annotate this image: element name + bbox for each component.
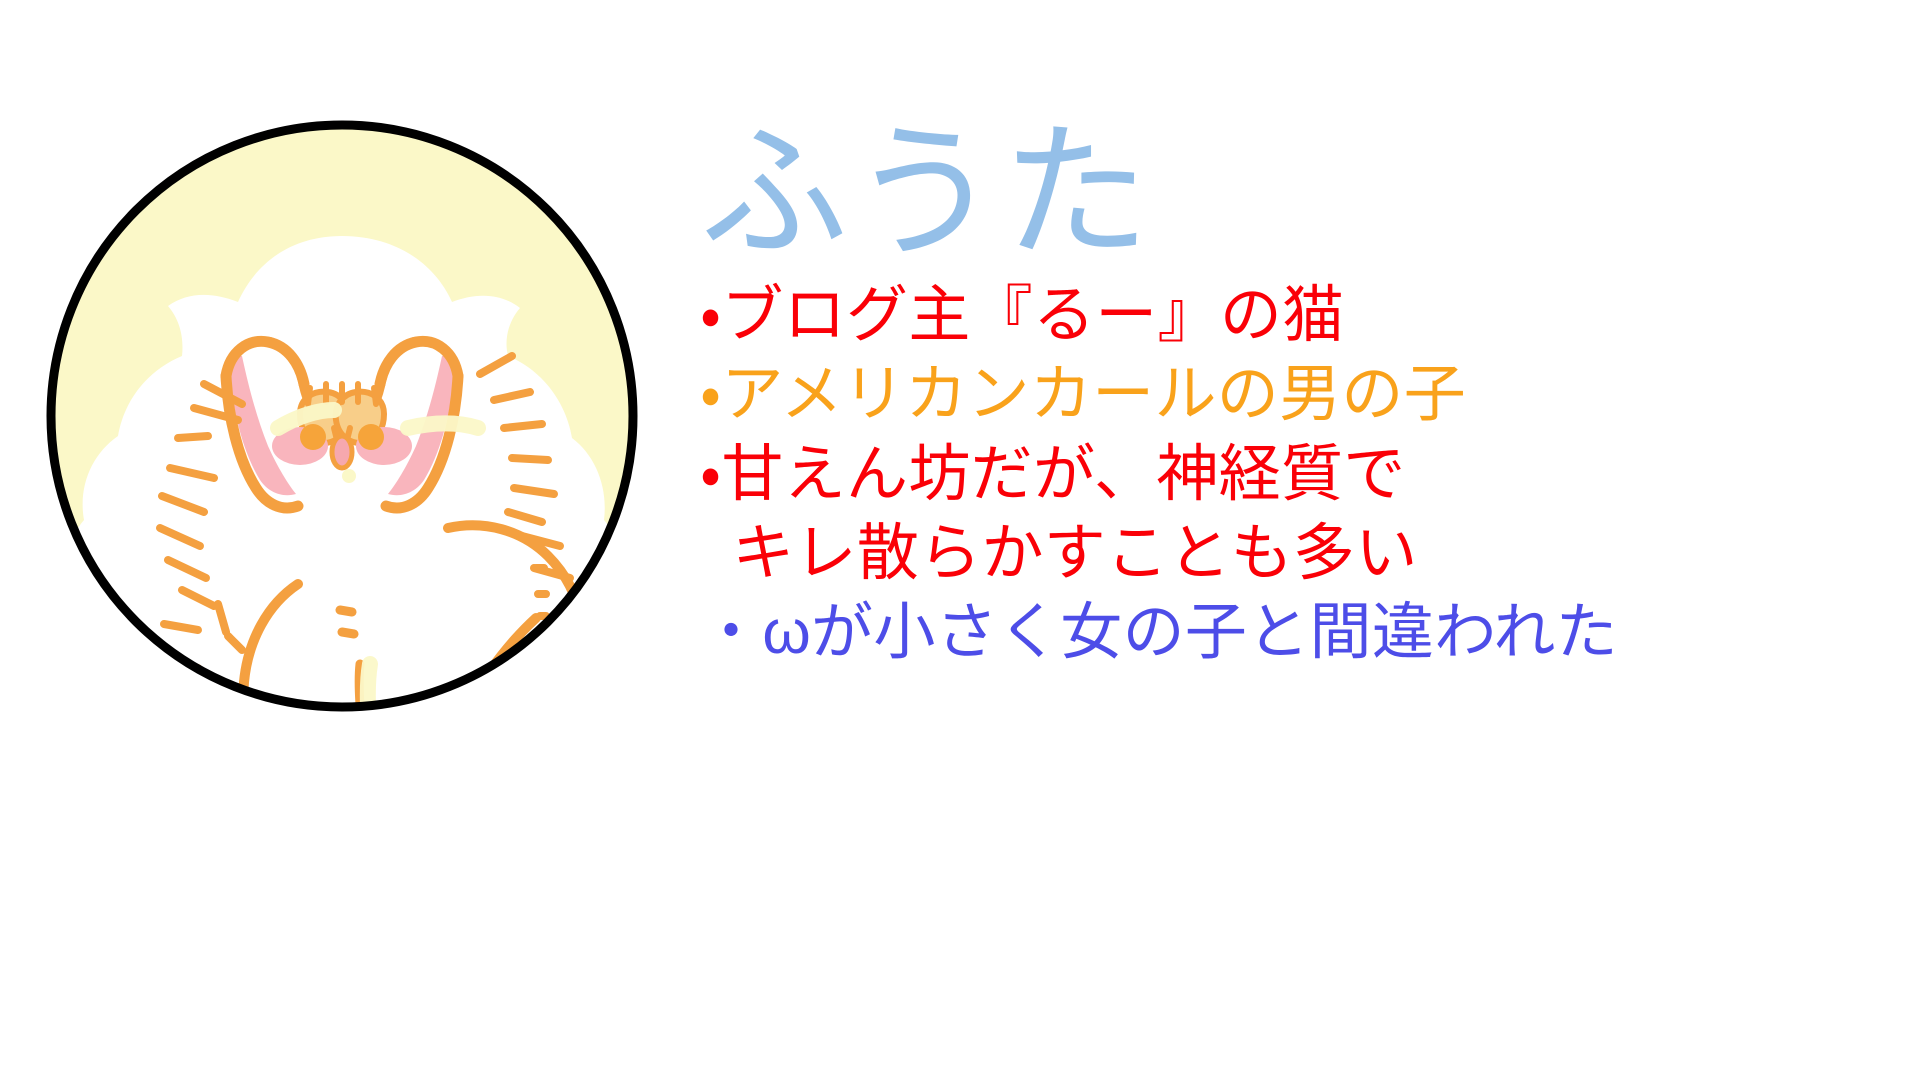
bullet-marker: ・ bbox=[700, 360, 721, 429]
right-whisker-dot bbox=[358, 424, 384, 450]
left-whisker-dot bbox=[300, 424, 326, 450]
bullet-marker: ・ bbox=[700, 281, 721, 350]
cat-portrait bbox=[42, 116, 642, 716]
nose bbox=[332, 436, 352, 468]
bullet-text: 甘えん坊だが、神経質で bbox=[721, 440, 1405, 509]
bullet-marker: ・ bbox=[700, 598, 762, 667]
slide-canvas: ふうた ・ブログ主『るー』の猫 ・アメリカンカールの男の子 ・甘えん坊だが、神経… bbox=[0, 0, 1920, 1080]
bullet-text-continuation: キレ散らかすことも多い bbox=[700, 514, 1890, 593]
cat-portrait-illustration bbox=[42, 116, 642, 716]
list-item: ・ωが小さく女の子と間違われた bbox=[700, 593, 1890, 672]
bullet-text: アメリカンカールの男の子 bbox=[721, 360, 1466, 429]
chin-highlight bbox=[342, 469, 356, 483]
bullet-text: ブログ主『るー』の猫 bbox=[721, 281, 1344, 350]
bullet-marker: ・ bbox=[700, 440, 721, 509]
profile-bullet-list: ・ブログ主『るー』の猫 ・アメリカンカールの男の子 ・甘えん坊だが、神経質で キ… bbox=[700, 276, 1890, 673]
bullet-text: ωが小さく女の子と間違われた bbox=[762, 598, 1618, 667]
list-item: ・ブログ主『るー』の猫 bbox=[700, 276, 1890, 355]
page-title: ふうた bbox=[700, 120, 1890, 268]
list-item: ・甘えん坊だが、神経質で キレ散らかすことも多い bbox=[700, 435, 1890, 594]
profile-info-panel: ふうた ・ブログ主『るー』の猫 ・アメリカンカールの男の子 ・甘えん坊だが、神経… bbox=[700, 120, 1890, 673]
list-item: ・アメリカンカールの男の子 bbox=[700, 355, 1890, 434]
